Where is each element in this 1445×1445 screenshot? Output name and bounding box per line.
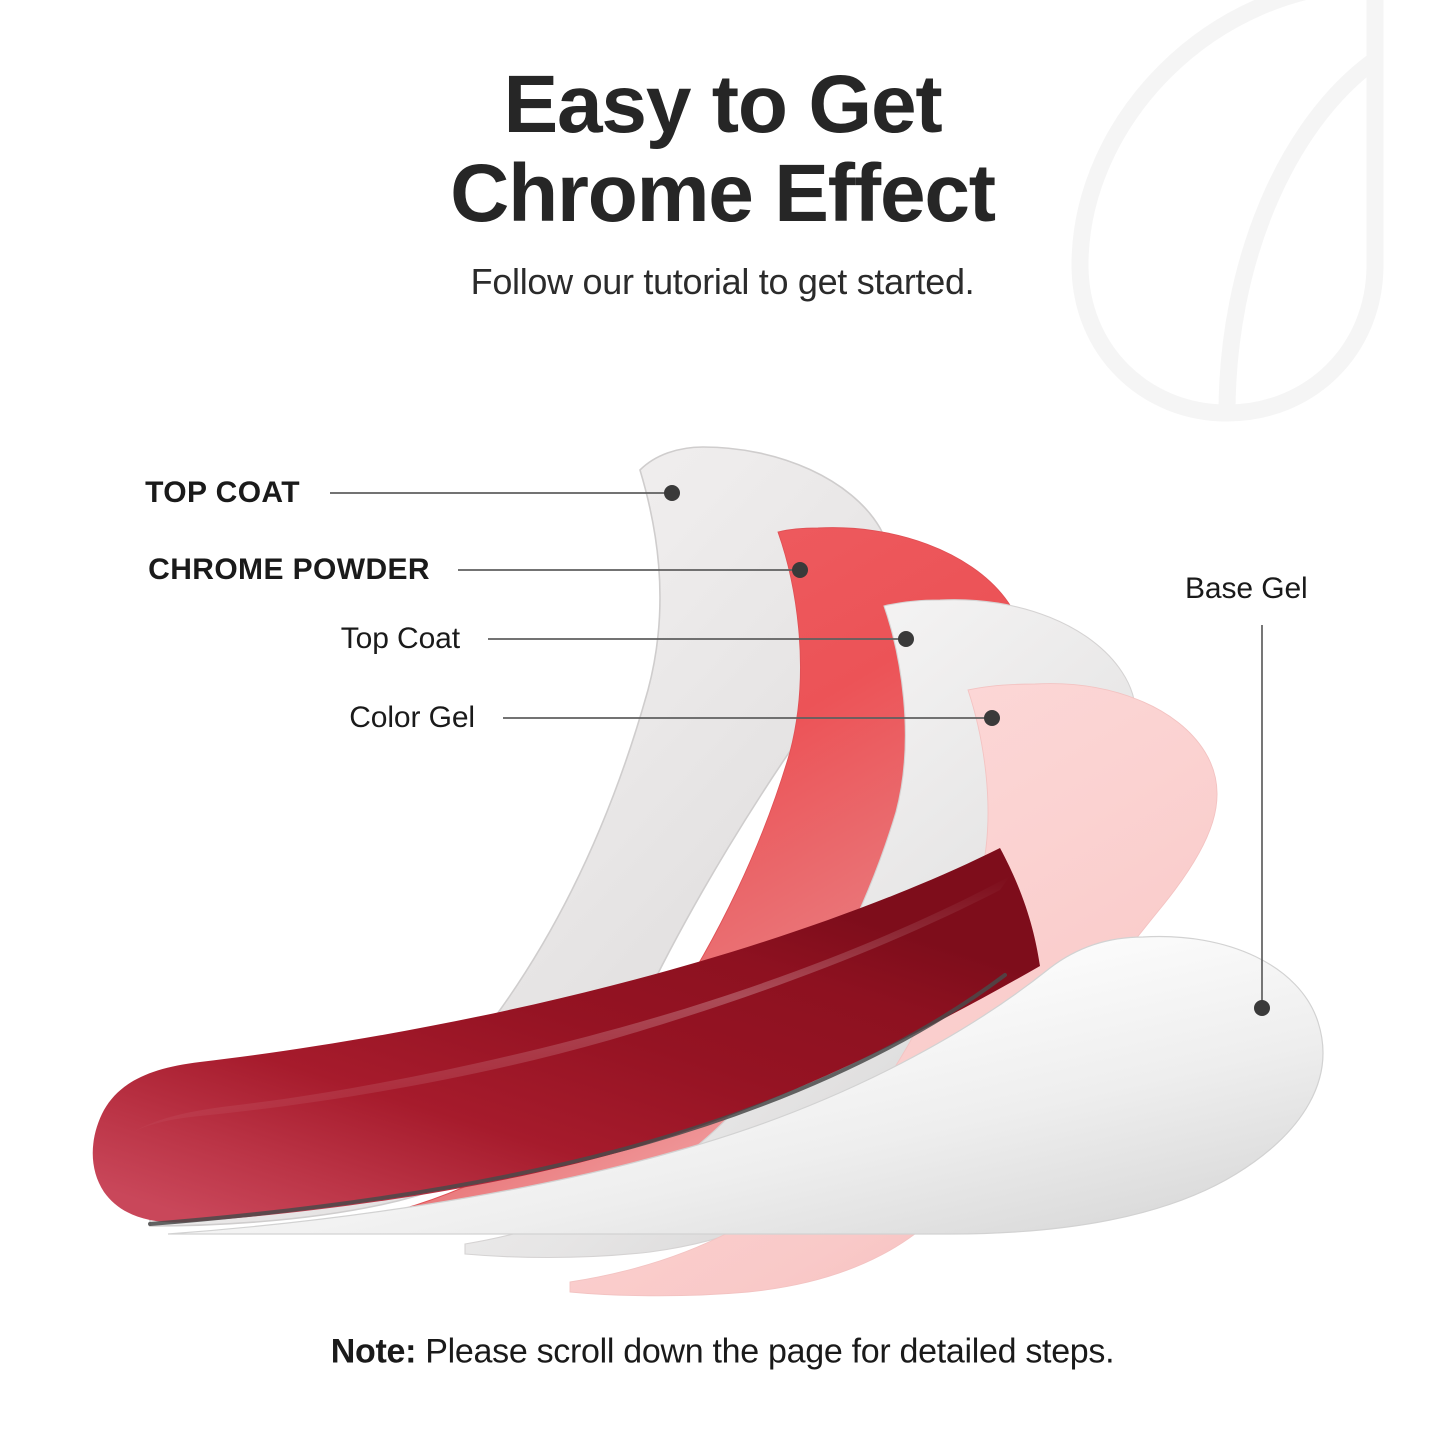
nail-layers-illustration (0, 0, 1445, 1445)
leader-dot-top-coat-upper (664, 485, 680, 501)
label-base-gel: Base Gel (1185, 572, 1308, 606)
leader-dot-chrome-powder (792, 562, 808, 578)
leader-dot-top-coat-lower (898, 631, 914, 647)
label-top-coat-lower: Top Coat (341, 622, 460, 656)
label-color-gel: Color Gel (349, 701, 475, 735)
leader-dot-base-gel (1254, 1000, 1270, 1016)
leader-dot-color-gel (984, 710, 1000, 726)
label-chrome-powder: CHROME POWDER (148, 553, 430, 587)
footer-note-text: Please scroll down the page for detailed… (416, 1333, 1114, 1371)
footer-note: Note: Please scroll down the page for de… (0, 1333, 1445, 1372)
footer-note-prefix: Note: (331, 1333, 416, 1371)
label-top-coat-upper: TOP COAT (145, 476, 300, 510)
